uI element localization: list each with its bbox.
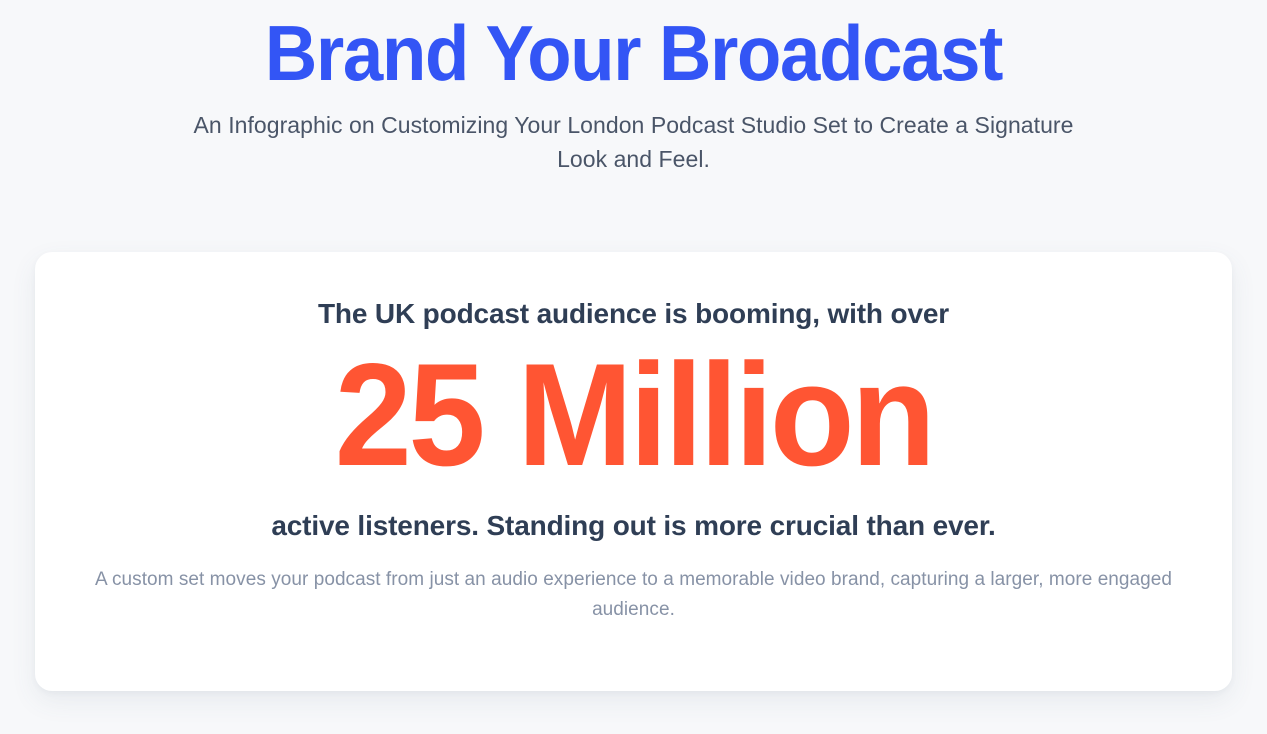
page-subtitle: An Infographic on Customizing Your Londo… [181,108,1086,176]
stat-lead-text: The UK podcast audience is booming, with… [318,296,949,331]
statistic-card: The UK podcast audience is booming, with… [35,252,1232,691]
stat-trailing-text: active listeners. Standing out is more c… [271,508,995,543]
infographic-page: Brand Your Broadcast An Infographic on C… [0,0,1267,734]
page-header: Brand Your Broadcast An Infographic on C… [35,0,1232,176]
page-title: Brand Your Broadcast [77,14,1190,94]
stat-big-number: 25 Million [335,341,933,490]
stat-body-paragraph: A custom set moves your podcast from jus… [87,565,1180,627]
